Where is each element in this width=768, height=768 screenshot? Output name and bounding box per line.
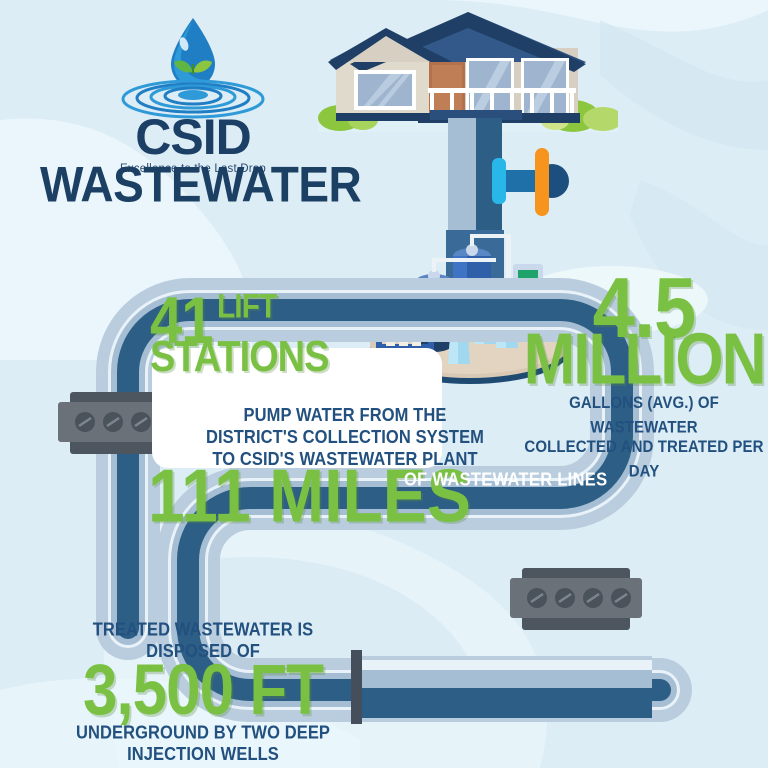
water-droplet-with-leaves-icon <box>108 12 278 120</box>
csid-logo: CSID Excellence to the Last Drop <box>108 12 278 175</box>
million-gallons-body-line1: GALLONS (AVG.) OF WASTEWATER <box>520 391 768 440</box>
infographic-canvas: CSID Excellence to the Last Drop WASTEWA… <box>0 0 768 768</box>
disposal-bottom-text: UNDERGROUND BY TWO DEEP INJECTION WELLS <box>48 723 358 766</box>
lift-stations-body-line1: PUMP WATER FROM THE <box>185 404 505 428</box>
logo-wordmark: CSID <box>108 114 278 160</box>
disposal-number: 3,500 FT <box>48 660 358 723</box>
miles-body: OF WASTEWATER LINES <box>404 470 607 491</box>
lift-stations-body-line2: DISTRICT'S COLLECTION SYSTEM <box>185 426 505 450</box>
stat-million-gallons: 4.5 MILLION GALLONS (AVG.) OF WASTEWATER… <box>520 272 768 478</box>
stat-disposal-depth: TREATED WASTEWATER IS DISPOSED OF 3,500 … <box>48 620 358 761</box>
million-gallons-unit: MILLION <box>520 329 768 392</box>
pipe-flange-icon <box>510 568 642 630</box>
page-title: WASTEWATER <box>40 155 361 213</box>
lift-stations-unit-line1: LIFT <box>217 292 276 322</box>
lift-stations-unit-line2: STATIONS <box>150 339 410 377</box>
stat-lift-stations: 41 LIFT STATIONS PUMP WATER FROM THE DIS… <box>150 292 410 372</box>
